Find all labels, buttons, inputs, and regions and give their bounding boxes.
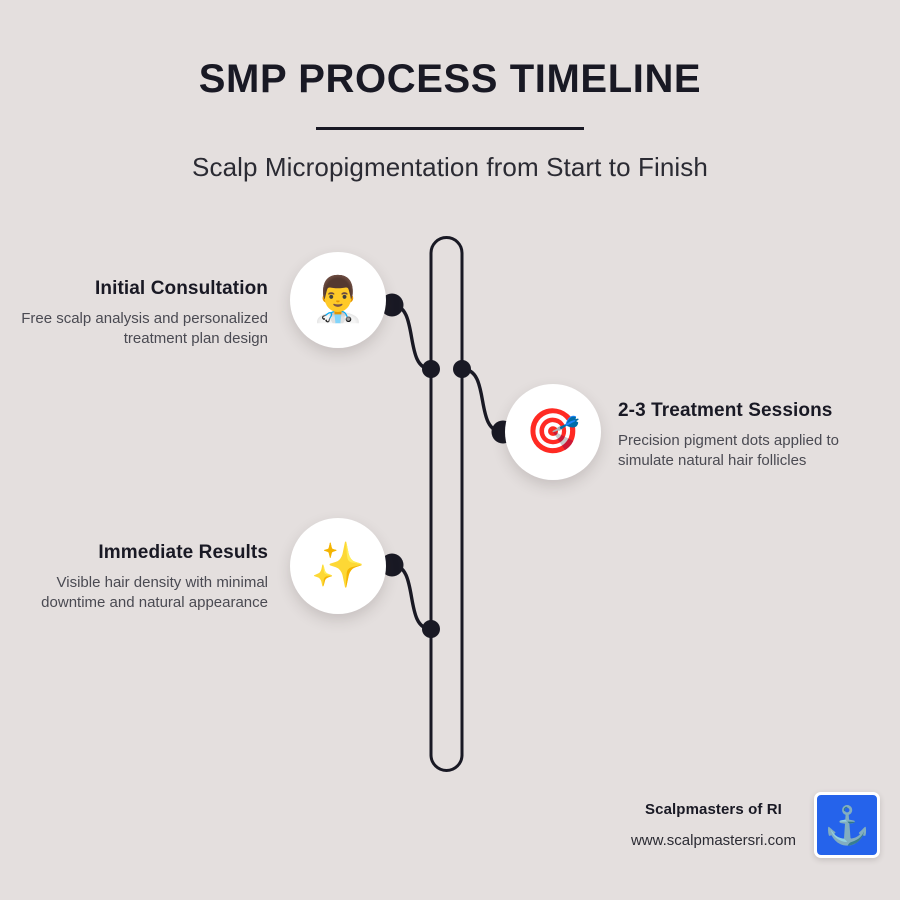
step-3-text: Immediate Results Visible hair density w… <box>12 541 268 613</box>
step-1-title: Initial Consultation <box>12 277 268 301</box>
branch-path-step-1 <box>392 305 431 369</box>
sparkles-emoji-icon: ✨ <box>311 544 366 588</box>
brand-name: Scalpmasters of RI <box>631 801 796 818</box>
footer-text-block: Scalpmasters of RI www.scalpmastersri.co… <box>631 801 796 849</box>
brand-website[interactable]: www.scalpmastersri.com <box>631 818 796 849</box>
branch-path-step-2 <box>462 369 503 432</box>
step-3-icon-bubble: ✨ <box>290 518 386 614</box>
step-2-text: 2-3 Treatment Sessions Precision pigment… <box>618 399 880 471</box>
step-2-icon-bubble: 🎯 <box>505 384 601 480</box>
doctor-emoji-icon: 👨‍⚕️ <box>311 278 366 322</box>
node-step-1-rail <box>422 360 440 378</box>
step-2-description: Precision pigment dots applied to simula… <box>618 423 880 471</box>
node-step-2-rail <box>453 360 471 378</box>
step-2-title: 2-3 Treatment Sessions <box>618 399 880 423</box>
timeline-rail <box>431 238 462 756</box>
branch-path-step-3 <box>392 565 431 629</box>
step-1-description: Free scalp analysis and personalized tre… <box>12 301 268 349</box>
node-step-3-rail <box>422 620 440 638</box>
footer-branding: Scalpmasters of RI www.scalpmastersri.co… <box>480 792 880 858</box>
infographic-canvas: SMP PROCESS TIMELINE Scalp Micropigmenta… <box>0 0 900 900</box>
header: SMP PROCESS TIMELINE Scalp Micropigmenta… <box>0 0 900 183</box>
brand-logo: ⚓ <box>814 792 880 858</box>
step-3-title: Immediate Results <box>12 541 268 565</box>
step-1-icon-bubble: 👨‍⚕️ <box>290 252 386 348</box>
step-3-description: Visible hair density with minimal downti… <box>12 565 268 613</box>
target-dart-emoji-icon: 🎯 <box>526 410 581 454</box>
step-1-text: Initial Consultation Free scalp analysis… <box>12 277 268 349</box>
page-title: SMP PROCESS TIMELINE <box>0 0 900 101</box>
anchor-icon: ⚓ <box>824 807 870 844</box>
timeline-rail-bottom-cap <box>431 755 462 770</box>
page-subtitle: Scalp Micropigmentation from Start to Fi… <box>0 130 900 183</box>
